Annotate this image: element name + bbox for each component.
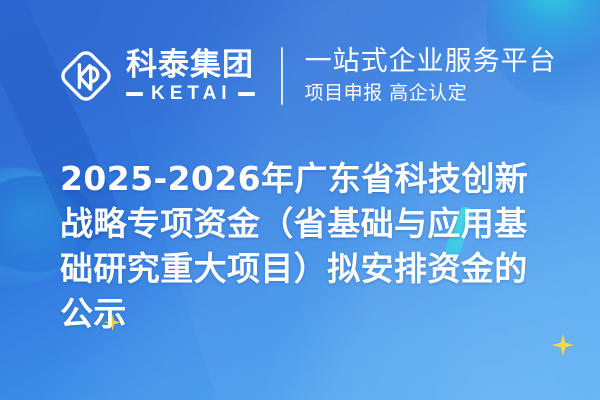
dash-right-decoration bbox=[238, 92, 255, 96]
tagline-sub-text: 项目申报 高企认定 bbox=[305, 80, 557, 106]
banner-header: 科泰集团 KETAI 一站式企业服务平台 项目申报 高企认定 bbox=[56, 46, 557, 106]
header-divider bbox=[281, 47, 283, 105]
brand-name-en: KETAI bbox=[143, 84, 238, 104]
brand-wordmark: 科泰集团 KETAI bbox=[126, 48, 255, 104]
tagline-block: 一站式企业服务平台 项目申报 高企认定 bbox=[305, 46, 557, 106]
banner-title: 2025-2026年广东省科技创新战略专项资金（省基础与应用基础研究重大项目）拟… bbox=[60, 156, 556, 336]
tagline-main-text: 一站式企业服务平台 bbox=[305, 46, 557, 78]
brand-name-en-row: KETAI bbox=[126, 84, 255, 104]
ketai-diamond-kp-logo-icon bbox=[56, 46, 116, 106]
brand-logo[interactable]: 科泰集团 KETAI bbox=[56, 46, 255, 106]
dash-left-decoration bbox=[126, 92, 143, 96]
sparkle-right-icon bbox=[552, 334, 574, 356]
brand-name-cn: 科泰集团 bbox=[126, 48, 255, 82]
promo-banner: 科泰集团 KETAI 一站式企业服务平台 项目申报 高企认定 2025-2026… bbox=[0, 0, 600, 400]
